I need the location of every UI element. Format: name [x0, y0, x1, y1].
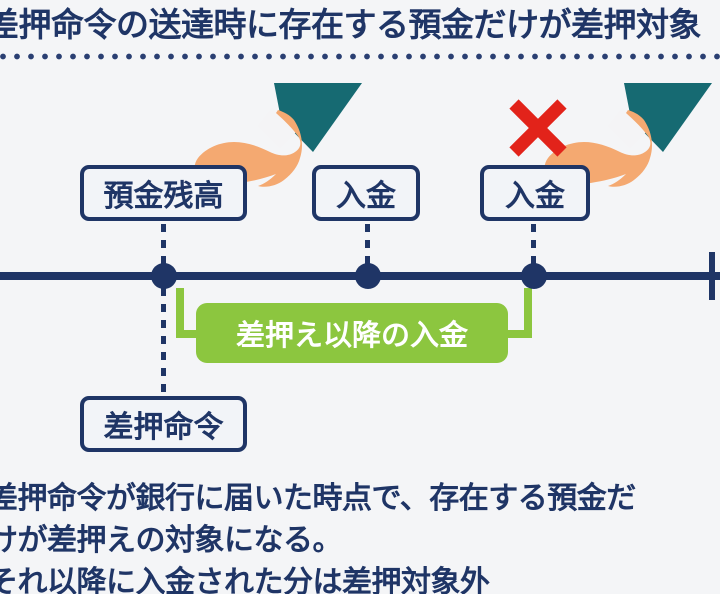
- event-box-deposit-in-2[interactable]: 入金: [480, 165, 590, 221]
- timeline-dot-deposit1[interactable]: [355, 263, 381, 289]
- timeline-dot-deposit2[interactable]: [521, 263, 547, 289]
- caption-line-1: 差押命令が銀行に届いた時点で、存在する預金だ: [0, 478, 720, 520]
- infographic-canvas: 差押命令の送達時に存在する預金だけが差押対象 預金残高 入金: [0, 0, 720, 594]
- event-box-deposit-balance[interactable]: 預金残高: [80, 165, 247, 221]
- event-box-label: 預金残高: [104, 171, 224, 215]
- caption-line-2: けが差押えの対象になる。: [0, 520, 720, 562]
- dotted-divider: [0, 52, 720, 61]
- caption-line-3: それ以降に入金された分は差押対象外: [0, 562, 720, 594]
- seizure-order-label: 差押命令: [104, 402, 224, 446]
- timeline-dot-balance[interactable]: [151, 263, 177, 289]
- reject-cross-icon: [505, 95, 571, 161]
- page-title: 差押命令の送達時に存在する預金だけが差押対象: [0, 2, 720, 48]
- timeline-end-cap: [709, 252, 715, 300]
- green-annotation-label: 差押え以降の入金: [196, 303, 508, 363]
- event-box-label: 入金: [336, 171, 396, 215]
- connector-dashed-seizure-order: [161, 288, 166, 396]
- event-box-label: 入金: [505, 171, 565, 215]
- event-box-deposit-in-1[interactable]: 入金: [312, 165, 420, 221]
- green-bracket-right-arm: [524, 288, 532, 338]
- green-annotation-text: 差押え以降の入金: [236, 312, 468, 354]
- seizure-order-box[interactable]: 差押命令: [80, 396, 247, 452]
- caption-block: 差押命令が銀行に届いた時点で、存在する預金だ けが差押えの対象になる。 それ以降…: [0, 478, 720, 594]
